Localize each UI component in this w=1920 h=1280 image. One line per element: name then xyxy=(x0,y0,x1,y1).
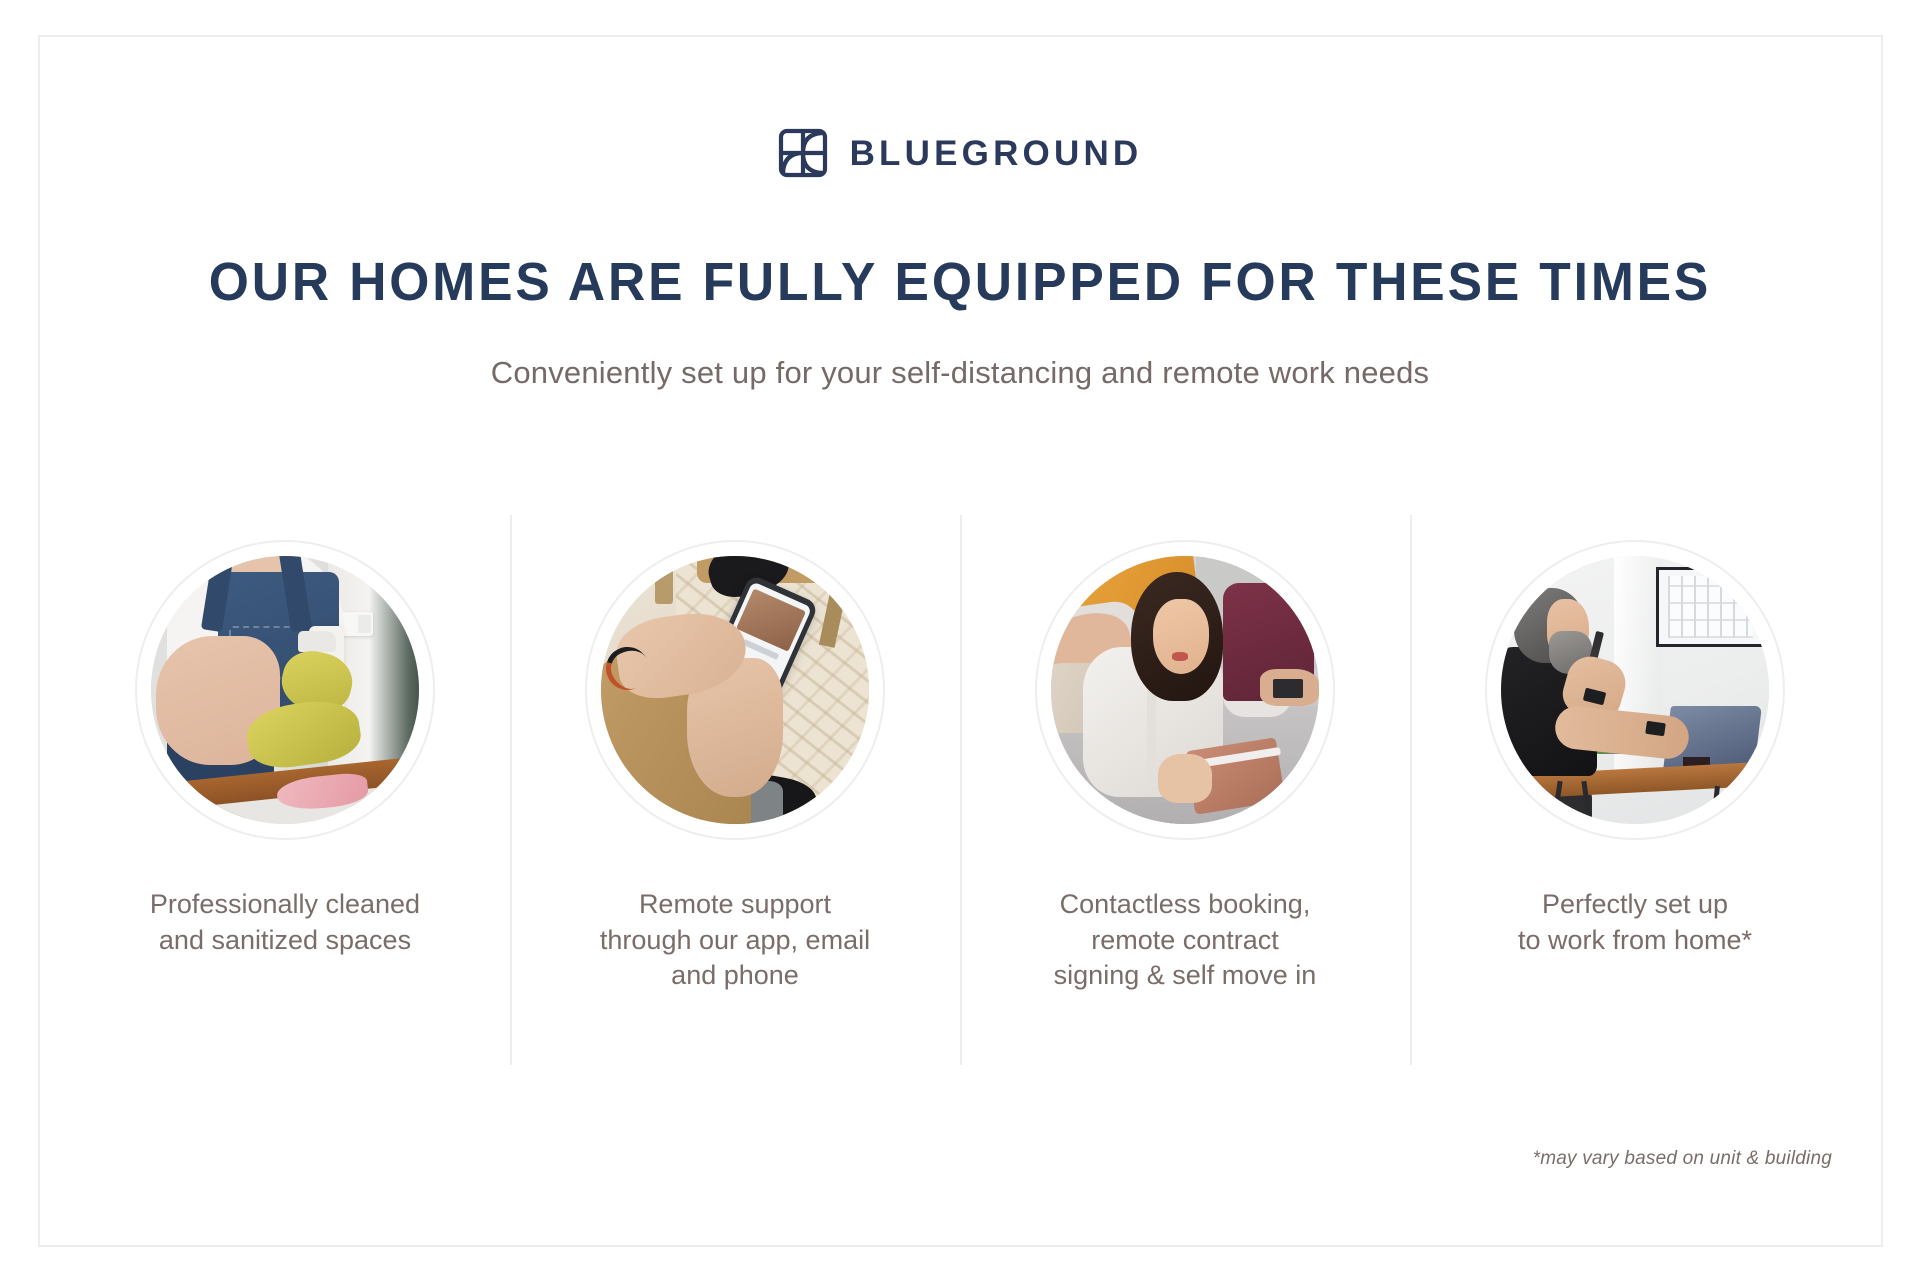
professional-cleaning-photo xyxy=(151,556,419,824)
feature-column-remote-support: Remote support through our app, email an… xyxy=(510,515,960,1065)
caption-line: remote contract xyxy=(1020,923,1350,959)
feature-columns: Professionally cleaned and sanitized spa… xyxy=(60,515,1860,1065)
caption-line: and sanitized spaces xyxy=(120,923,450,959)
feature-caption: Contactless booking, remote contract sig… xyxy=(1020,887,1350,994)
page-subtitle: Conveniently set up for your self-distan… xyxy=(0,354,1920,393)
caption-line: Remote support xyxy=(570,887,900,923)
feature-column-work-from-home: Perfectly set up to work from home* xyxy=(1410,515,1860,1065)
feature-column-contactless-booking: Contactless booking, remote contract sig… xyxy=(960,515,1410,1065)
feature-caption: Remote support through our app, email an… xyxy=(570,887,900,994)
blueground-square-logo-icon xyxy=(778,128,828,178)
contactless-booking-photo xyxy=(1051,556,1319,824)
caption-line: and phone xyxy=(570,958,900,994)
work-from-home-photo xyxy=(1501,556,1769,824)
feature-caption: Perfectly set up to work from home* xyxy=(1470,887,1800,958)
feature-caption: Professionally cleaned and sanitized spa… xyxy=(120,887,450,958)
feature-column-cleaning: Professionally cleaned and sanitized spa… xyxy=(60,515,510,1065)
photo-ring xyxy=(1035,540,1335,840)
footnote: *may vary based on unit & building xyxy=(1533,1148,1832,1170)
infographic-page: BLUEGROUND OUR HOMES ARE FULLY EQUIPPED … xyxy=(0,0,1920,1280)
caption-line: to work from home* xyxy=(1470,923,1800,959)
photo-ring xyxy=(1485,540,1785,840)
caption-line: Contactless booking, xyxy=(1020,887,1350,923)
photo-ring xyxy=(585,540,885,840)
caption-line: Perfectly set up xyxy=(1470,887,1800,923)
caption-line: Professionally cleaned xyxy=(120,887,450,923)
caption-line: through our app, email xyxy=(570,923,900,959)
brand-logo: BLUEGROUND xyxy=(0,128,1920,178)
photo-ring xyxy=(135,540,435,840)
brand-name: BLUEGROUND xyxy=(850,136,1143,171)
caption-line: signing & self move in xyxy=(1020,958,1350,994)
page-title: OUR HOMES ARE FULLY EQUIPPED FOR THESE T… xyxy=(43,254,1877,311)
remote-support-photo xyxy=(601,556,869,824)
